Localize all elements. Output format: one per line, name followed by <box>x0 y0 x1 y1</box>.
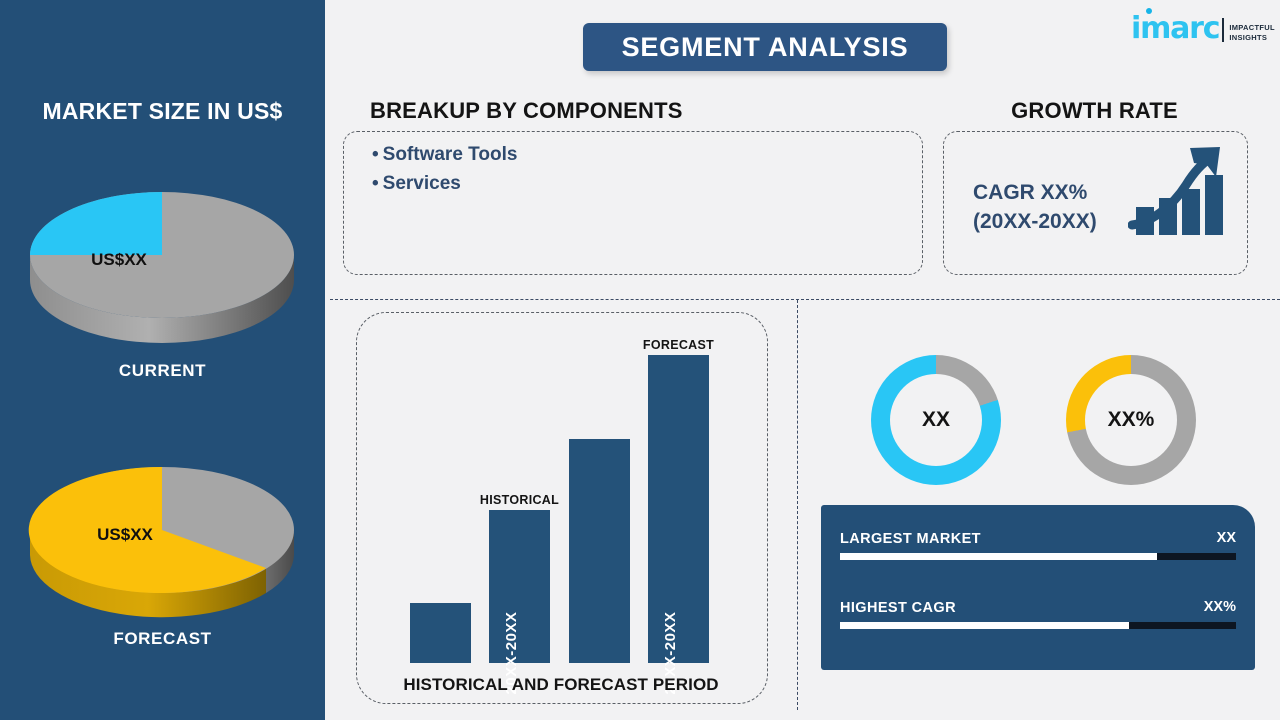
list-item: •Software Tools <box>372 140 517 169</box>
growth-arrow-bars-icon <box>1128 145 1224 242</box>
donut-1-center: XX <box>890 374 982 466</box>
bar-3 <box>569 439 630 663</box>
logo-tagline-line-2: INSIGHTS <box>1229 33 1274 42</box>
logo-tagline-line-1: IMPACTFUL <box>1229 23 1274 32</box>
progress-fill <box>840 622 1129 629</box>
horizontal-divider <box>330 299 1280 300</box>
logo-wordmark: imarc <box>1131 14 1219 44</box>
sidebar-title: MARKET SIZE IN US$ <box>0 98 325 125</box>
progress-fill <box>840 553 1157 560</box>
bar-chart: 20XX-20XX HISTORICAL 20XX-20XX FORECAST <box>356 330 766 663</box>
bar-2: 20XX-20XX <box>489 510 550 663</box>
historical-annotation: HISTORICAL <box>469 493 570 507</box>
bullet-icon: • <box>372 173 379 194</box>
components-heading: BREAKUP BY COMPONENTS <box>370 98 683 124</box>
market-stats-panel: LARGEST MARKET XX HIGHEST CAGR XX% <box>821 505 1255 670</box>
stat-value: XX% <box>1204 599 1236 615</box>
list-item-label: Software Tools <box>383 144 518 165</box>
stat-highest-cagr: HIGHEST CAGR XX% <box>840 599 1236 617</box>
forecast-annotation: FORECAST <box>628 338 729 352</box>
bar-chart-caption: HISTORICAL AND FORECAST PERIOD <box>356 675 766 695</box>
progress-track <box>840 553 1236 560</box>
segment-analysis-infographic: MARKET SIZE IN US$ US$XX CURRENT <box>0 0 1280 720</box>
page-title-label: SEGMENT ANALYSIS <box>622 32 909 63</box>
list-item: •Services <box>372 169 517 198</box>
progress-track <box>840 622 1236 629</box>
list-item-label: Services <box>383 173 461 194</box>
logo-dot-icon <box>1146 8 1152 14</box>
pie-current-value: US$XX <box>91 250 147 269</box>
donut-2-value: XX% <box>1108 408 1155 432</box>
pie-current-svg: US$XX <box>15 160 310 350</box>
growth-rate-heading: GROWTH RATE <box>943 98 1246 124</box>
donut-1-value: XX <box>922 408 950 432</box>
components-list: •Software Tools •Services <box>372 140 517 198</box>
vertical-divider <box>797 300 798 710</box>
stat-value: XX <box>1217 530 1236 546</box>
cagr-value: CAGR XX% <box>973 178 1097 207</box>
cagr-text: CAGR XX% (20XX-20XX) <box>973 178 1097 236</box>
stat-label: LARGEST MARKET <box>840 531 981 547</box>
logo-divider <box>1222 18 1224 42</box>
imarc-logo: imarc IMPACTFUL INSIGHTS <box>1131 14 1275 44</box>
pie-chart-forecast: US$XX <box>15 435 310 625</box>
pie-chart-current: US$XX <box>15 160 310 350</box>
cagr-period: (20XX-20XX) <box>973 207 1097 236</box>
bar-1 <box>410 603 471 663</box>
stat-largest-market: LARGEST MARKET XX <box>840 530 1236 548</box>
pie-forecast-value: US$XX <box>97 525 153 544</box>
pie-forecast-svg: US$XX <box>15 435 310 625</box>
pie-current-caption: CURRENT <box>0 361 325 381</box>
bar-4: 20XX-20XX <box>648 355 709 663</box>
donut-chart-2: XX% <box>1066 355 1196 485</box>
pie-forecast-caption: FORECAST <box>0 629 325 649</box>
bullet-icon: • <box>372 144 379 165</box>
page-title: SEGMENT ANALYSIS <box>583 23 947 71</box>
donut-chart-1: XX <box>871 355 1001 485</box>
logo-tagline: IMPACTFUL INSIGHTS <box>1229 23 1274 44</box>
stat-label: HIGHEST CAGR <box>840 600 956 616</box>
donut-2-center: XX% <box>1085 374 1177 466</box>
